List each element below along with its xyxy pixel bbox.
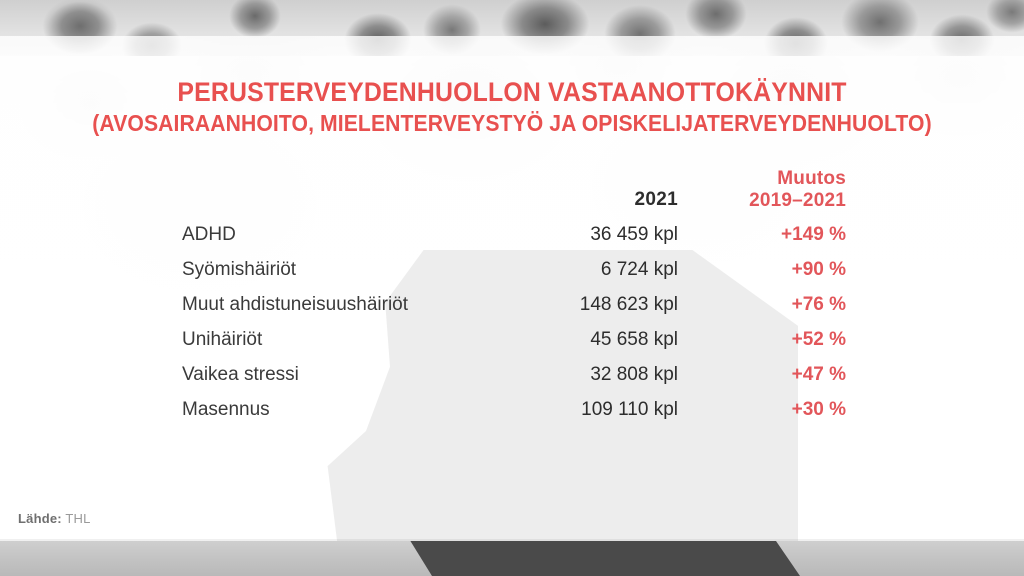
row-label-text: Muut ahdistuneisuushäiriöt <box>182 294 408 317</box>
row-change-text: +76 % <box>792 294 846 317</box>
row-value: 109 110 kpl <box>486 399 678 421</box>
table-row: Unihäiriöt 45 658 kpl +52 % <box>150 316 870 351</box>
header-change-line2: 2019–2021 <box>678 190 846 211</box>
row-value: 6 724 kpl <box>486 259 678 281</box>
source-label: Lähde: <box>18 511 62 526</box>
row-value-text: 109 110 kpl <box>581 399 678 422</box>
row-value-text: 32 808 kpl <box>590 364 678 387</box>
page-subtitle: (Avosairaanhoito, mielenterveystyö ja op… <box>41 111 983 136</box>
row-change-text: +30 % <box>792 399 846 422</box>
statistics-table: 2021 Muutos 2019–2021 ADHD 36 459 kpl +1… <box>150 163 870 421</box>
row-label: Masennus <box>150 399 486 421</box>
table-row: Muut ahdistuneisuushäiriöt 148 623 kpl +… <box>150 281 870 316</box>
slide-content: Perusterveydenhuollon vastaanottokäynnit… <box>0 0 1024 576</box>
row-change: +52 % <box>678 329 870 351</box>
page-title: Perusterveydenhuollon vastaanottokäynnit <box>41 78 983 107</box>
row-value: 45 658 kpl <box>486 329 678 351</box>
row-label: Unihäiriöt <box>150 329 486 351</box>
row-change-text: +149 % <box>781 224 846 247</box>
slide-root: Perusterveydenhuollon vastaanottokäynnit… <box>0 0 1024 576</box>
row-value: 148 623 kpl <box>486 294 678 316</box>
row-change: +149 % <box>678 224 870 246</box>
table-row: Masennus 109 110 kpl +30 % <box>150 386 870 421</box>
row-change: +47 % <box>678 364 870 386</box>
row-label: Muut ahdistuneisuushäiriöt <box>150 294 486 316</box>
row-value: 36 459 kpl <box>486 224 678 246</box>
row-change: +76 % <box>678 294 870 316</box>
header-change-line1: Muutos <box>678 168 846 189</box>
row-value-text: 6 724 kpl <box>601 259 678 282</box>
row-value-text: 36 459 kpl <box>590 224 678 247</box>
row-label-text: Vaikea stressi <box>182 364 299 387</box>
table-row: Syömishäiriöt 6 724 kpl +90 % <box>150 246 870 281</box>
row-change-text: +47 % <box>792 364 846 387</box>
table-header-row: 2021 Muutos 2019–2021 <box>150 163 870 211</box>
source-value: THL <box>65 511 90 526</box>
row-change: +30 % <box>678 399 870 421</box>
row-label: Syömishäiriöt <box>150 259 486 281</box>
row-label-text: Masennus <box>182 399 270 422</box>
row-change-text: +52 % <box>792 329 846 352</box>
header-year-2021: 2021 <box>635 189 678 212</box>
table-row: ADHD 36 459 kpl +149 % <box>150 211 870 246</box>
row-label: ADHD <box>150 224 486 246</box>
row-value-text: 45 658 kpl <box>590 329 678 352</box>
header-value-column: 2021 <box>486 189 678 211</box>
row-value-text: 148 623 kpl <box>580 294 678 317</box>
source-attribution: Lähde: THL <box>18 511 91 526</box>
title-block: Perusterveydenhuollon vastaanottokäynnit… <box>0 78 1024 136</box>
row-label: Vaikea stressi <box>150 364 486 386</box>
table-row: Vaikea stressi 32 808 kpl +47 % <box>150 351 870 386</box>
header-change-column: Muutos 2019–2021 <box>678 168 870 211</box>
row-value: 32 808 kpl <box>486 364 678 386</box>
row-label-text: Syömishäiriöt <box>182 259 296 282</box>
row-label-text: Unihäiriöt <box>182 329 262 352</box>
header-change-label: Muutos 2019–2021 <box>678 168 846 211</box>
row-change: +90 % <box>678 259 870 281</box>
row-change-text: +90 % <box>792 259 846 282</box>
row-label-text: ADHD <box>182 224 236 247</box>
